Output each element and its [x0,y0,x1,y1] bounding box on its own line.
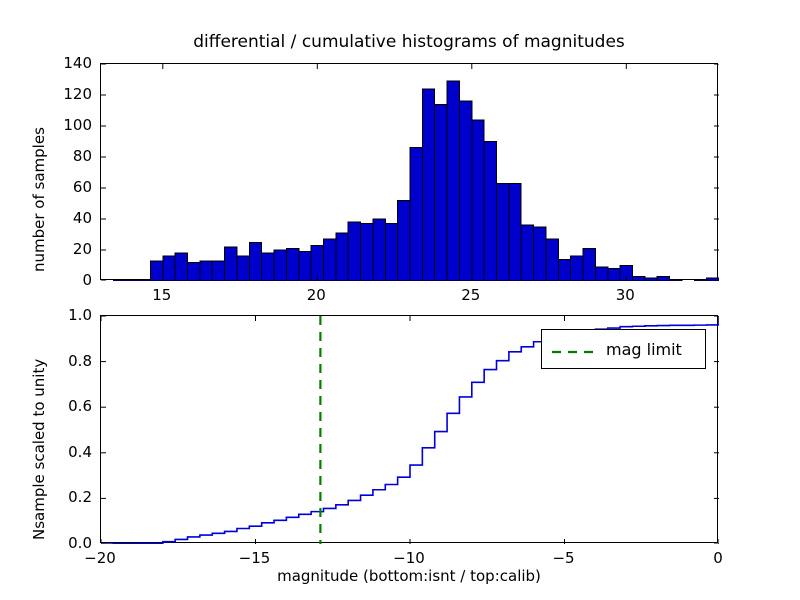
y-tick-label: 1.0 [40,306,92,324]
histogram-bar [113,279,125,281]
histogram-bar [225,247,237,281]
x-tick-label: −10 [393,549,425,567]
histogram-bar [694,279,706,281]
x-tick-label: 30 [616,286,635,304]
histogram-bar [249,242,261,281]
histogram-bar [361,224,373,281]
histogram-bar [126,279,138,281]
histogram-bar [237,256,249,281]
histogram-bar [398,200,410,281]
histogram-bar [435,104,447,281]
histogram-bar [472,120,484,281]
mag-limit-line-icon [550,343,596,355]
top-axis-y-label: number of samples [30,127,48,272]
histogram-bar [571,256,583,281]
bottom-axis-y-label: Nsample scaled to unity [30,359,48,540]
histogram-bar [447,81,459,281]
histogram-bar [521,225,533,281]
legend[interactable]: mag limit [541,329,706,369]
histogram-bar [534,227,546,281]
histogram-bar [670,279,682,281]
differential-histogram-axes [100,63,718,280]
x-tick-label: −20 [84,549,116,567]
histogram-bar [175,253,187,281]
histogram-bar [497,183,509,281]
legend-entry: mag limit [542,330,705,368]
x-tick-label: 20 [307,286,326,304]
histogram-bar [299,252,311,281]
histogram-bar [410,148,422,281]
histogram-bar [373,219,385,281]
x-tick-label: 15 [152,286,171,304]
page-title: differential / cumulative histograms of … [100,32,718,52]
histogram-bar [163,256,175,281]
histogram-bar [311,245,323,281]
histogram-bar [188,262,200,281]
histogram-bar [138,279,150,281]
histogram-bar [274,250,286,281]
histogram-bar [150,261,162,281]
histogram-bar [608,269,620,281]
figure-canvas: differential / cumulative histograms of … [0,0,800,600]
histogram-bar [546,239,558,281]
y-tick-label: 120 [40,85,92,103]
histogram-bar [583,248,595,281]
histogram-bar [323,239,335,281]
histogram-bar [558,259,570,281]
y-tick-label: 0 [40,271,92,289]
histogram-bar [509,183,521,281]
x-tick-label: −5 [552,549,574,567]
y-tick-label: 140 [40,54,92,72]
histogram-bar [632,276,644,281]
histogram-bar [212,261,224,281]
legend-label-mag-limit: mag limit [606,340,682,359]
histogram-bar [484,142,496,282]
x-tick-label: 0 [713,549,723,567]
x-axis-label: magnitude (bottom:isnt / top:calib) [277,567,541,585]
histogram-bar [459,101,471,281]
histogram-bar [262,253,274,281]
x-tick-label: −15 [239,549,271,567]
histogram-bar [286,248,298,281]
histogram-bar [348,222,360,281]
histogram-bar [385,224,397,281]
differential-histogram-plot [101,64,719,281]
x-tick-label: 25 [461,286,480,304]
histogram-bar [200,261,212,281]
histogram-bar [657,276,669,281]
histogram-bar [645,278,657,281]
histogram-bar [336,233,348,281]
histogram-bar [422,89,434,281]
histogram-bar [595,267,607,281]
